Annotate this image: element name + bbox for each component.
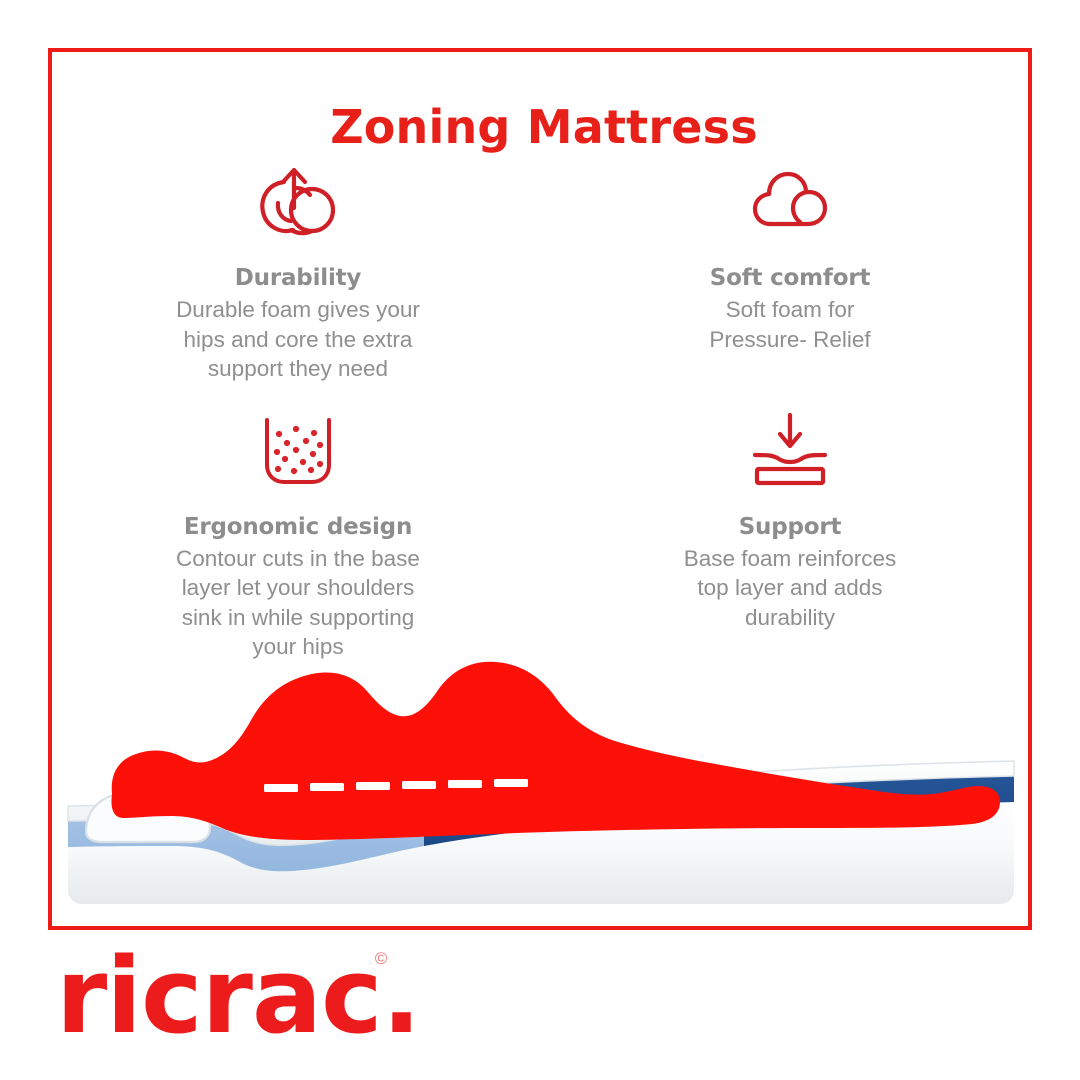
feature-description: Soft foam for Pressure- Relief: [709, 295, 870, 354]
durability-blob-arrow-icon: [250, 157, 346, 249]
feature-ergonomic-design: Ergonomic design Contour cuts in the bas…: [52, 406, 544, 662]
sleeper-silhouette: [112, 662, 1001, 840]
logo-wordmark: ricrac. ©: [56, 944, 420, 1048]
foam-dots-box-icon: [250, 406, 346, 498]
feature-grid: Durability Durable foam gives your hips …: [52, 157, 1036, 662]
feature-title: Support: [739, 514, 842, 540]
downward-pressure-icon: [735, 406, 845, 498]
page-title: Zoning Mattress: [52, 100, 1036, 154]
feature-durability: Durability Durable foam gives your hips …: [52, 157, 544, 384]
feature-title: Soft comfort: [710, 265, 871, 291]
brand-logo: ricrac. ©: [56, 944, 420, 1054]
cloud-icon: [742, 157, 838, 249]
logo-wordmark-text: ricrac.: [56, 935, 420, 1057]
feature-support: Support Base foam reinforces top layer a…: [544, 406, 1036, 662]
poster-canvas: Zoning Mattress: [0, 0, 1080, 1080]
feature-title: Durability: [235, 265, 361, 291]
red-frame-border: Zoning Mattress: [48, 48, 1032, 930]
registered-trademark-icon: ©: [375, 950, 387, 967]
zoned-mattress-cross-section: [52, 636, 1036, 926]
feature-description: Durable foam gives your hips and core th…: [176, 295, 420, 384]
feature-title: Ergonomic design: [184, 514, 412, 540]
feature-description: Base foam reinforces top layer and adds …: [684, 544, 897, 633]
feature-soft-comfort: Soft comfort Soft foam for Pressure- Rel…: [544, 157, 1036, 384]
